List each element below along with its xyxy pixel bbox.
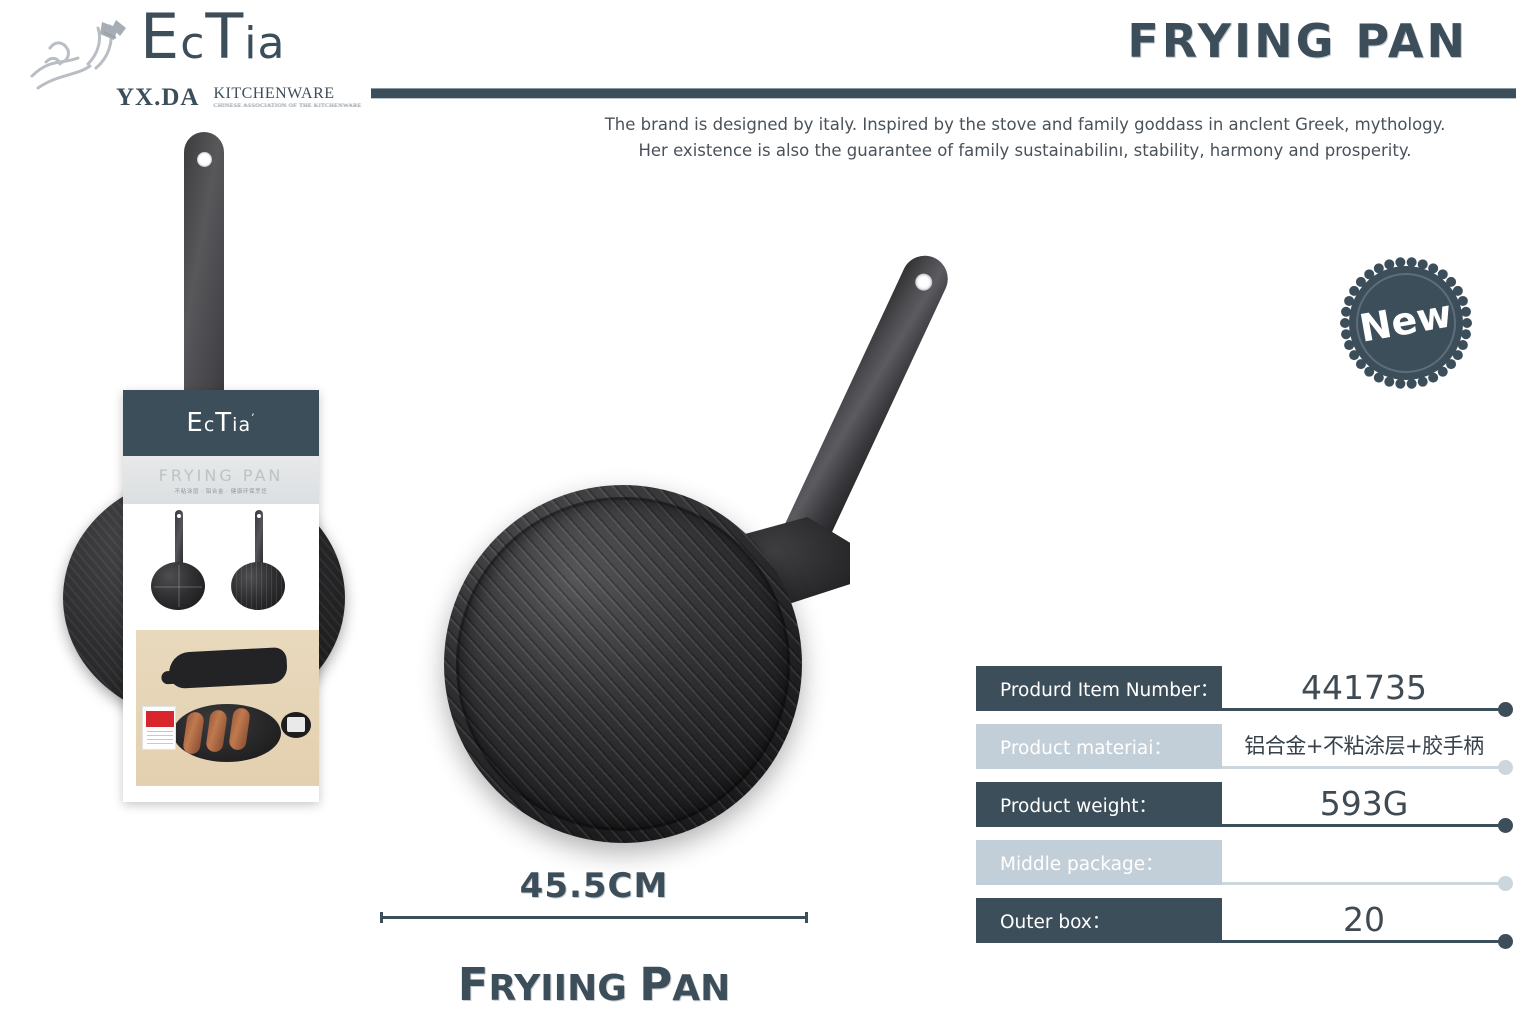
package-card-logo: EcTia’: [186, 408, 255, 438]
spec-row-connector: [1222, 824, 1502, 827]
spec-row-connector: [1222, 882, 1502, 885]
caption-part-3: II: [540, 968, 567, 1009]
spec-row-label: Outer box：: [976, 898, 1222, 943]
brand-category-label: KITCHENWARE: [213, 86, 361, 103]
package-card-product-shots: [123, 504, 319, 630]
spec-row-connector: [1222, 708, 1502, 711]
spec-row-connector: [1222, 766, 1502, 769]
product-caption: FRYIING PAN: [380, 958, 808, 1011]
pan-rim: [456, 497, 790, 831]
package-card-header: EcTia’: [123, 390, 319, 456]
pan-body: [444, 485, 802, 843]
brand-company-name: YX.DA: [116, 84, 199, 112]
spec-row-label: Product materiai：: [976, 724, 1222, 769]
caption-part-6: AN: [672, 968, 730, 1009]
specification-table: Produrd Item Number：441735Product materi…: [976, 666, 1516, 956]
spec-row-value: 441735: [1226, 666, 1502, 708]
spec-row-value: [1226, 840, 1502, 882]
spec-row-label: Product weight：: [976, 782, 1222, 827]
spec-row: Middle package：: [976, 840, 1516, 897]
intro-line-1: The brand is designed by italy. Inspired…: [560, 112, 1490, 138]
caption-part-5: P: [639, 958, 672, 1011]
spec-row-value: 593G: [1226, 782, 1502, 824]
dimension-cap-right: [805, 912, 808, 923]
brand-wordmark: EcTia: [140, 6, 285, 68]
spec-row: Produrd Item Number：441735: [976, 666, 1516, 723]
dimension-indicator: 45.5CM: [380, 866, 808, 923]
page-title: FRYING PAN: [1127, 14, 1468, 68]
brand-intro-text: The brand is designed by italy. Inspired…: [560, 112, 1490, 163]
dimension-bar: [380, 916, 808, 919]
intro-line-2: Her existence is also the guarantee of f…: [560, 138, 1490, 164]
mini-pan-left: [151, 562, 205, 610]
dimension-label: 45.5CM: [380, 866, 808, 906]
mini-pan-right: [231, 562, 285, 610]
package-card-title-band: FRYING PAN 不粘涂层 · 铝合金 · 健康环保烹饪: [123, 456, 319, 504]
brand-logo: EcTia YX.DA KITCHENWARE CHINESE ASSOCIAT…: [20, 4, 370, 116]
package-card-title: FRYING PAN: [159, 466, 284, 485]
spec-row-connector: [1222, 940, 1502, 943]
spec-row-value: 铝合金+不粘涂层+胶手柄: [1226, 724, 1502, 766]
spec-row-label: Middle package：: [976, 840, 1222, 885]
korean-label: [142, 706, 176, 750]
dimension-line: [380, 912, 808, 923]
brand-tagline: CHINESE ASSOCIATION OF THE KITCHENWARE: [213, 103, 361, 108]
spec-row: Product materiai：铝合金+不粘涂层+胶手柄: [976, 724, 1516, 781]
caption-part-4: NG: [567, 968, 639, 1009]
header-divider-bar: [371, 88, 1516, 99]
caption-part-1: F: [458, 958, 489, 1011]
packaged-product-photo: EcTia’ FRYING PAN 不粘涂层 · 铝合金 · 健康环保烹饪: [55, 132, 355, 802]
product-badge-knob: [281, 712, 311, 738]
new-badge-starburst-icon: New: [1339, 256, 1473, 390]
spec-row: Outer box：20: [976, 898, 1516, 955]
package-card-subtitle: 不粘涂层 · 铝合金 · 健康环保烹饪: [175, 487, 268, 495]
retail-package-card: EcTia’ FRYING PAN 不粘涂层 · 铝合金 · 健康环保烹饪: [123, 390, 319, 802]
oven-mitt: [168, 647, 288, 689]
spec-row: Product weight：593G: [976, 782, 1516, 839]
caption-part-2: RY: [488, 968, 540, 1009]
spec-row-label: Produrd Item Number：: [976, 666, 1222, 711]
spec-row-value: 20: [1226, 898, 1502, 940]
main-product-photo: [420, 195, 1000, 875]
new-badge: New: [1339, 256, 1473, 390]
mini-pan-handle-right: [255, 510, 263, 566]
mini-pan-handle-left: [175, 510, 183, 566]
catalog-page: EcTia YX.DA KITCHENWARE CHINESE ASSOCIAT…: [0, 0, 1536, 1024]
package-card-lifestyle-photo: [123, 630, 319, 802]
